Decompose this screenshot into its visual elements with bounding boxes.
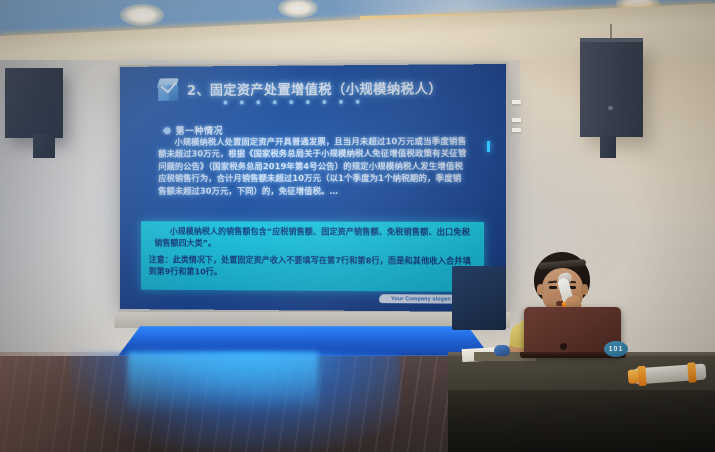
wall-speaker-right-bracket <box>600 136 616 158</box>
slide-slogan-text: Your Company slogan <box>391 296 451 302</box>
presenter-eye-left <box>549 286 557 289</box>
screen-base-skirt <box>115 312 510 328</box>
slide-bullet-heading: 第一种情况 <box>164 123 223 137</box>
wall-speaker-left-bracket <box>33 134 55 158</box>
wall-speaker-right <box>580 42 643 137</box>
floor-blue-reflection-core <box>128 352 318 414</box>
rolled-object-band <box>637 366 646 387</box>
wall-fixture-icon <box>512 118 521 122</box>
presenter-ear-left <box>537 284 544 295</box>
wall-fixture-icon <box>512 128 521 132</box>
ceiling-downlight-icon <box>120 4 164 26</box>
wall-fixture-icon <box>512 100 521 104</box>
computer-mouse[interactable] <box>494 345 510 356</box>
slide-highlight-block: 小规模纳税人的销售额包含“应税销售额、固定资产销售额、免税销售额、出口免税销售额… <box>141 221 484 292</box>
laptop-sticker-label: 101 <box>609 346 624 353</box>
presenter-ear-right <box>581 284 588 295</box>
projection-screen[interactable]: 2、固定资产处置增值税（小规模纳税人） 第一种情况 小规模纳税人处置固定资产开具… <box>120 64 506 312</box>
wall-speaker-left <box>5 68 63 138</box>
podium-desk-shadow <box>448 390 715 452</box>
slide-highlight-paragraph: 小规模纳税人的销售额包含“应税销售额、固定资产销售额、免税销售额、出口免税销售额… <box>154 226 474 250</box>
speaker-badge-icon <box>608 106 613 110</box>
cube-check-icon <box>156 75 181 103</box>
slide-title: 2、固定资产处置增值税（小规模纳税人） <box>187 77 442 98</box>
slide-highlight-note: 注意：此类情况下，处置固定资产收入不要填写在第7行和第8行，而是和其他收入合并填… <box>149 254 476 279</box>
laptop-sticker: 101 <box>604 341 628 357</box>
laptop-logo-icon <box>560 343 567 350</box>
screen-status-led-icon <box>487 141 490 152</box>
rolled-object <box>634 364 707 385</box>
rolled-object-band <box>687 362 696 383</box>
bullet-heading-label: 第一种情况 <box>175 123 223 137</box>
slide-title-dot-rule <box>223 98 480 105</box>
conference-room-photo: 2、固定资产处置增值税（小规模纳税人） 第一种情况 小规模纳税人处置固定资产开具… <box>0 0 715 452</box>
bullet-marker-icon <box>163 125 172 135</box>
slide-paragraph-1: 小规模纳税人处置固定资产开具普通发票，且当月未超过10万元或当季度销售额未超过3… <box>158 136 468 198</box>
